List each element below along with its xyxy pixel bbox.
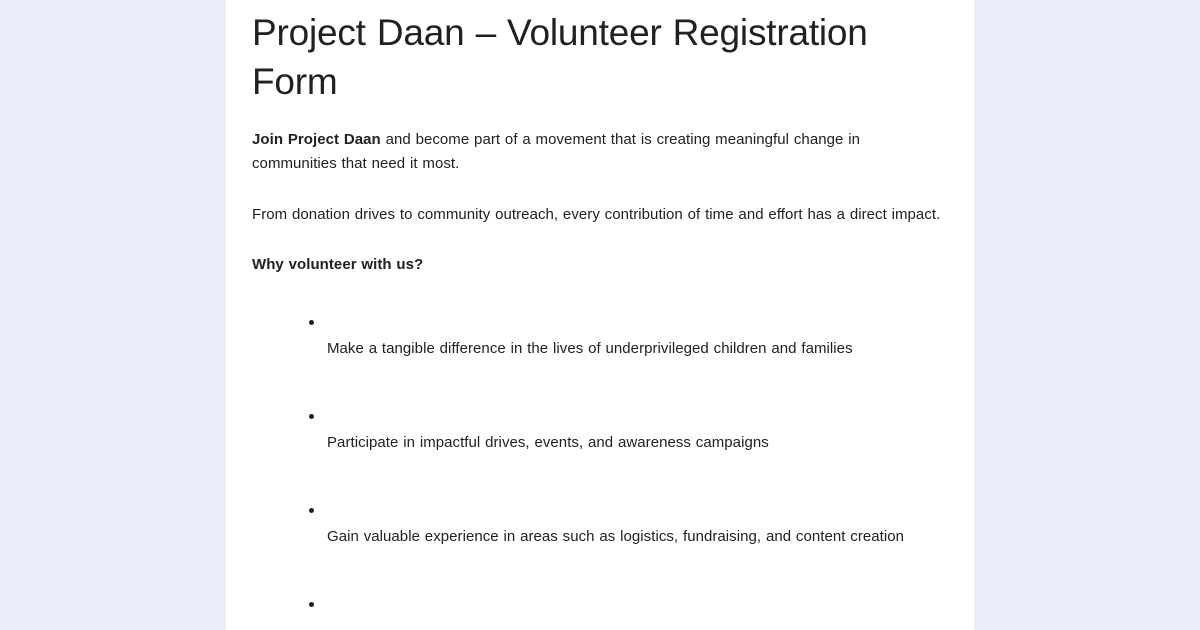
bullet-icon (309, 602, 314, 607)
list-item: Make a tangible difference in the lives … (252, 316, 948, 410)
section-heading: Why volunteer with us? (252, 227, 948, 277)
list-item (252, 598, 948, 630)
document-viewport: Project Daan – Volunteer Registration Fo… (0, 0, 1200, 630)
page-title: Project Daan – Volunteer Registration Fo… (252, 0, 948, 106)
bullet-icon (309, 320, 314, 325)
list-item: Gain valuable experience in areas such a… (252, 504, 948, 598)
list-item-label (327, 598, 948, 619)
intro-lead-bold: Join Project Daan (252, 131, 381, 148)
bullet-icon (309, 414, 314, 419)
list-item-label: Make a tangible difference in the lives … (327, 316, 948, 361)
list-item-label: Gain valuable experience in areas such a… (327, 504, 948, 549)
document-page: Project Daan – Volunteer Registration Fo… (226, 0, 974, 630)
list-item: Participate in impactful drives, events,… (252, 410, 948, 504)
bullet-icon (309, 508, 314, 513)
intro-paragraph-2: From donation drives to community outrea… (252, 176, 948, 227)
document-body: Project Daan – Volunteer Registration Fo… (252, 0, 948, 630)
benefits-list: Make a tangible difference in the lives … (252, 316, 948, 630)
intro-paragraph-1: Join Project Daan and become part of a m… (252, 106, 948, 176)
list-item-label: Participate in impactful drives, events,… (327, 410, 948, 455)
